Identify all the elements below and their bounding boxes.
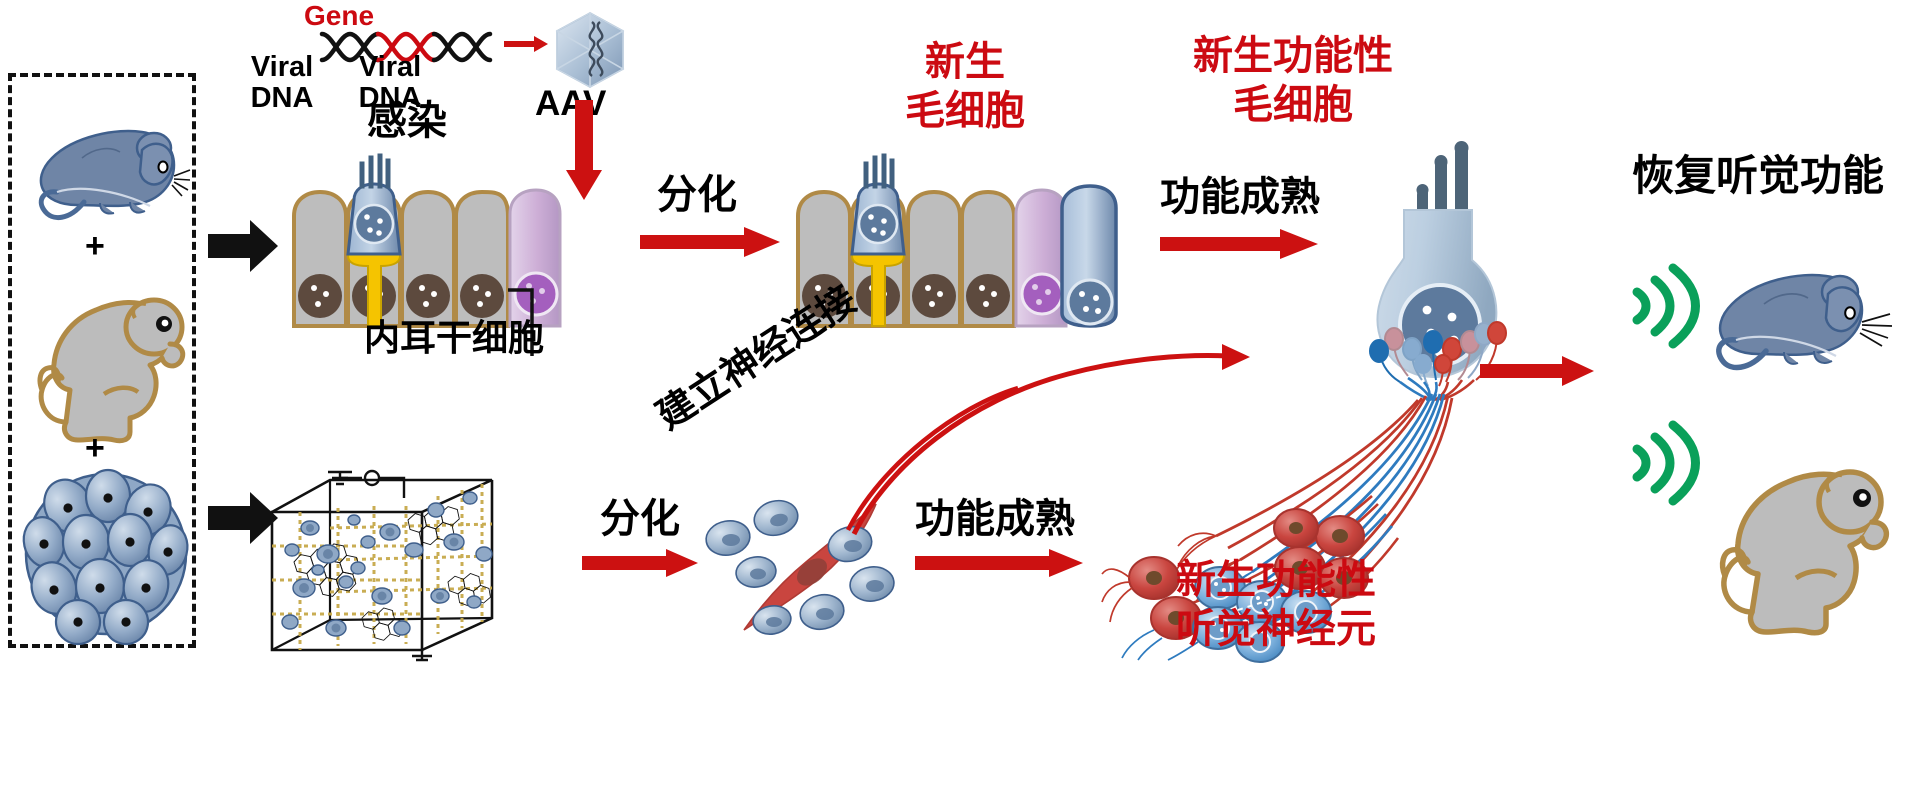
- inner-ear-stem-cells-label: 内耳干细胞: [364, 320, 544, 359]
- monkey-icon: [18, 272, 190, 447]
- conductive-hydrogel-scaffold: [262, 450, 502, 662]
- new-hair-cell-label: 新生 毛细胞: [855, 38, 1075, 136]
- arrow-to-outcome: [1480, 355, 1596, 387]
- mouse-icon: [22, 110, 192, 230]
- figure-canvas: + +: [0, 0, 1930, 809]
- differentiation-top-label: 分化: [657, 174, 737, 217]
- mature-functional-hair-cell: [1276, 140, 1506, 400]
- arrow-sources-to-epithelium: [208, 218, 280, 274]
- arrow-differentiation-top: [640, 226, 782, 258]
- establish-neural-connection-label: 建立神经连接: [650, 278, 864, 437]
- mouse-hearing-icon: [1700, 250, 1895, 380]
- plus-separator-1: +: [85, 228, 105, 265]
- plus-separator-2: +: [85, 430, 105, 467]
- arrow-gene-to-aav: [504, 33, 550, 55]
- gene-label: Gene: [289, 1, 389, 31]
- sound-wave-icon-mouse: [1625, 258, 1695, 353]
- sound-wave-icon-monkey: [1625, 415, 1695, 510]
- monkey-hearing-icon: [1700, 440, 1890, 640]
- blastocyst-icon: [22, 470, 190, 638]
- arrow-differentiation-bottom: [582, 548, 700, 578]
- viral-dna-left-label: Viral DNA: [222, 52, 342, 115]
- infection-label: 感染: [367, 100, 447, 143]
- arrow-aav-infection: [566, 100, 604, 204]
- new-functional-auditory-neuron-label: 新生功能性 听觉神经元: [1126, 556, 1426, 654]
- aav-capsid-icon: [552, 10, 628, 90]
- differentiation-bottom-label: 分化: [600, 498, 680, 541]
- arrow-functional-maturation-bottom: [915, 548, 1085, 578]
- restore-hearing-function-label: 恢复听觉功能: [1632, 153, 1884, 198]
- new-functional-hair-cell-label: 新生功能性 毛细胞: [1148, 32, 1438, 130]
